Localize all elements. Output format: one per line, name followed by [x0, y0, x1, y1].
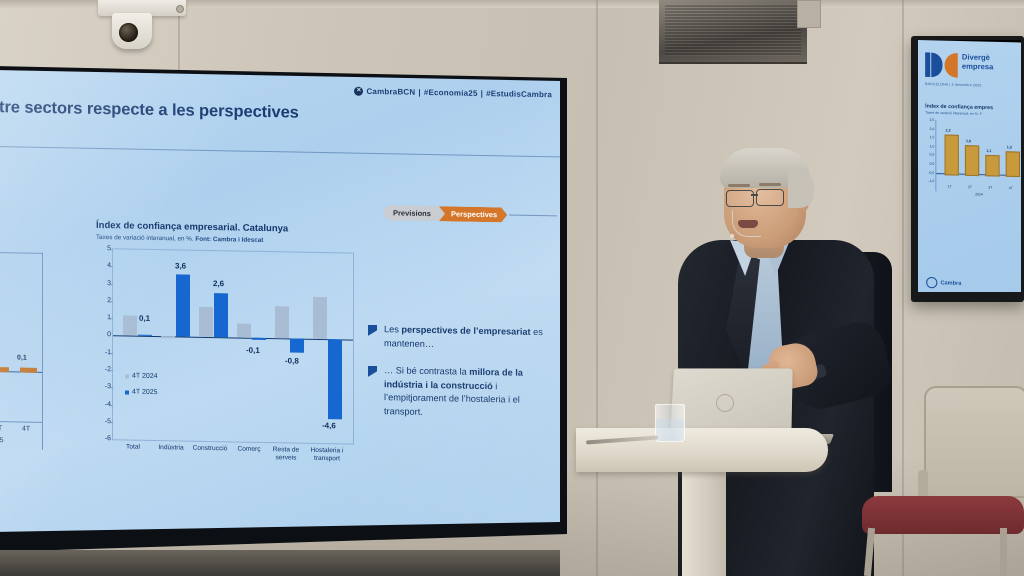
monitor-label-4T: 1,3 — [1007, 145, 1012, 149]
monitor-label-1T: 2,2 — [946, 128, 951, 132]
slide-nav-pills: Previsions Perspectives — [384, 205, 557, 223]
monitor-ytick-5: 0,0 — [922, 161, 934, 165]
datalabel-total: 0,1 — [139, 314, 150, 323]
monitor-ytick-7: -1,0 — [922, 179, 934, 183]
slide-bullet-list: Les perspectives de l’empresariat es man… — [368, 323, 550, 435]
slide-divider — [0, 146, 560, 158]
nav-pill-perspectives[interactable]: Perspectives — [439, 206, 507, 222]
bar-2024-construccio — [199, 307, 213, 337]
presentation-slide: ✕ CambraBCN | #Economia25 | #EstudisCamb… — [0, 70, 560, 532]
monitor-chart-plot: 2,5 2,0 1,5 1,0 0,5 0,0 -0,5 -1,0 2,2 1,… — [935, 120, 1018, 193]
laptop-logo-icon — [716, 394, 734, 412]
lectern-column — [682, 466, 726, 576]
datalabel-industria: 3,6 — [175, 261, 186, 270]
legend-swatch-2025 — [125, 390, 129, 394]
water-glass — [655, 404, 685, 442]
monitor-microtext: BARCELONA | 3 desembre 2025 — [925, 82, 981, 87]
eyeglasses-icon — [726, 190, 754, 207]
monitor-label-3T: 1,1 — [986, 149, 991, 153]
cambra-logo-icon — [926, 277, 937, 288]
bar-2025-comerc — [252, 338, 266, 340]
left-chart-plot: 0,1 0,1 -0,5 2T 3T 4T 2025 — [0, 251, 43, 450]
ytick-m6: -6 — [99, 435, 111, 442]
monitor-label-2T: 1,6 — [966, 139, 971, 143]
monitor-xtick-2T: 2T — [968, 185, 972, 189]
monitor-xtick-3T: 3T — [988, 186, 992, 190]
floor-shadow-band — [0, 550, 560, 576]
nav-pill-previsions[interactable]: Previsions — [384, 205, 445, 221]
flag-bullet-icon — [368, 366, 377, 377]
datalabel-comerc: -0,1 — [246, 346, 260, 355]
monitor-bar-1T — [945, 134, 959, 175]
chart-plot-area: 5 4 3 2 1 0 -1 -2 -3 -4 -5 -6 — [112, 248, 354, 444]
bar-2025-resta — [290, 339, 304, 353]
left-chart-header: Catalunya mbra i Idescat — [0, 217, 42, 236]
mount-screw — [176, 5, 184, 13]
ytick-mark — [110, 370, 113, 371]
projection-screen: ✕ CambraBCN | #Economia25 | #EstudisCamb… — [0, 64, 574, 552]
slide-hashtags: ✕ CambraBCN | #Economia25 | #EstudisCamb… — [354, 87, 552, 100]
legend-label-2025: 4T 2025 — [132, 389, 158, 396]
lectern-table-top — [576, 428, 828, 472]
datalabel-resta: -0,8 — [285, 356, 299, 365]
bullet2-seg1: … Si bé contrasta la — [384, 365, 469, 377]
monitor-chart-subtitle: Taxes de variació interanual, en %. F — [925, 111, 982, 116]
chart-subtitle: Taxes de variació interanual, en %. Font… — [96, 234, 263, 244]
flag-bullet-icon — [368, 325, 377, 336]
idc-logo-icon — [925, 52, 958, 77]
legend-item-2025: 4T 2025 — [125, 388, 158, 396]
ceiling-speaker — [659, 0, 807, 64]
monitor-ytick-4: 0,5 — [922, 153, 934, 157]
legend-item-2024: 4T 2024 — [125, 372, 158, 380]
ytick-mark — [110, 422, 113, 423]
speaker-grill — [665, 4, 801, 56]
left-chart-title: Catalunya — [0, 217, 42, 229]
bullet-item-1: Les perspectives de l’empresariat es man… — [368, 323, 550, 353]
chair-leg-right — [1000, 528, 1007, 576]
eyeglasses-icon — [756, 189, 784, 206]
ytick-mark — [110, 405, 113, 406]
hashtag-separator-1: | — [418, 88, 420, 97]
logo-c-shape — [945, 53, 958, 78]
bar-2024-hostaleria — [313, 297, 327, 340]
xcat-resta: Resta de serveis — [265, 446, 307, 463]
bullet-text-2: … Si bé contrasta la millora de la indús… — [384, 364, 550, 421]
monitor-headline: Divergè empresa — [962, 52, 993, 71]
datalabel-construccio: 2,6 — [213, 279, 224, 288]
monitor-ytick-3: 1,0 — [922, 144, 934, 148]
left-chart-xtick-4T: 4T — [22, 426, 30, 433]
monitor-bar-4T — [1006, 151, 1020, 177]
screen-surface: ✕ CambraBCN | #Economia25 | #EstudisCamb… — [0, 70, 560, 532]
cambra-brand-label: Cambra — [940, 280, 961, 287]
bullet1-seg1: Les — [384, 324, 401, 334]
camera-lens-icon — [119, 23, 138, 42]
chart-legend: 4T 2024 4T 2025 — [125, 372, 158, 405]
bar-2024-total — [123, 315, 137, 336]
ytick-mark — [110, 266, 113, 267]
left-chart-subtitle: mbra i Idescat — [0, 228, 42, 236]
social-handle: CambraBCN — [366, 87, 415, 97]
logo-d-shape — [931, 53, 942, 78]
legend-label-2024: 4T 2024 — [132, 373, 158, 380]
bullet-text-1: Les perspectives de l’empresariat es man… — [384, 323, 550, 353]
side-monitor: Divergè empresa BARCELONA | 3 desembre 2… — [911, 36, 1024, 302]
presenter-eyebrow-left — [728, 184, 750, 187]
chart-title: Índex de confiança empresarial. Cataluny… — [96, 220, 288, 235]
monitor-ytick-1: 2,0 — [922, 126, 934, 130]
monitor-bezel: Divergè empresa BARCELONA | 3 desembre 2… — [918, 40, 1021, 292]
bar-2025-hostaleria — [328, 340, 342, 420]
monitor-chart-year: 2024 — [975, 192, 983, 196]
presenter-hair-side — [788, 170, 814, 208]
monitor-ytick-0: 2,5 — [922, 118, 934, 122]
bar-2025-construccio — [214, 293, 228, 338]
ytick-mark — [110, 353, 113, 354]
legend-swatch-2024 — [125, 374, 129, 378]
screenshot-root: ✕ CambraBCN | #Economia25 | #EstudisCamb… — [0, 0, 1024, 576]
hashtag-estudis: #EstudisCambra — [486, 89, 552, 99]
bar-2024-industria — [161, 336, 175, 338]
presenter-eyebrow-right — [759, 183, 781, 186]
ytick-mark — [110, 318, 113, 319]
ytick-mark — [110, 284, 113, 285]
bar-2024-resta — [275, 306, 289, 339]
bullet1-seg2: perspectives de l’empresariat — [401, 325, 530, 337]
wall-plate — [797, 0, 821, 28]
monitor-xtick-4T: 4T — [1009, 186, 1013, 190]
chair-backrest — [924, 386, 1024, 498]
left-chart-bar-4T — [20, 368, 37, 373]
left-chart-bar-3T — [0, 367, 9, 372]
logo-bar — [925, 52, 930, 77]
ytick-0: 0 — [99, 331, 111, 338]
bullet-item-2: … Si bé contrasta la millora de la indús… — [368, 364, 550, 421]
nav-pill-tail — [509, 214, 557, 216]
xcat-hostaleria: Hostaleria i transport — [305, 447, 349, 464]
x-social-icon: ✕ — [354, 87, 363, 96]
slide-title: entre sectors respecte a les perspective… — [0, 98, 400, 125]
bar-2025-total — [138, 334, 152, 336]
monitor-headline-line2: empresa — [962, 61, 993, 71]
microphone-tip — [730, 234, 734, 238]
ytick-mark — [110, 387, 113, 388]
ytick-mark — [110, 249, 113, 250]
monitor-screen: Divergè empresa BARCELONA | 3 desembre 2… — [918, 40, 1021, 292]
left-chart-xtick-3T: 3T — [0, 425, 2, 432]
ytick-mark — [110, 301, 113, 302]
left-chart-year: 2025 — [0, 437, 4, 444]
monitor-bar-2T — [965, 145, 979, 176]
monitor-footer-brand: Cambra — [926, 277, 961, 289]
monitor-ytick-6: -0,5 — [922, 170, 934, 174]
hashtag-economia: #Economia25 — [424, 88, 478, 98]
monitor-bar-3T — [985, 155, 999, 177]
left-chart-label-4T: 0,1 — [17, 354, 27, 361]
chart-subtitle-plain: Taxes de variació interanual, en %. — [96, 234, 195, 243]
bar-2024-comerc — [237, 323, 251, 338]
water-level — [656, 419, 684, 441]
hashtag-separator-2: | — [481, 89, 483, 98]
monitor-ytick-2: 1,5 — [922, 135, 934, 139]
eyeglasses-bridge — [751, 194, 758, 196]
chart-subtitle-source: Font: Cambra i Idescat — [195, 236, 263, 244]
bar-2025-industria — [176, 275, 190, 337]
left-chart-baseline — [0, 420, 42, 423]
monitor-xtick-1T: 1T — [948, 185, 952, 189]
datalabel-hostaleria: -4,6 — [322, 421, 336, 430]
